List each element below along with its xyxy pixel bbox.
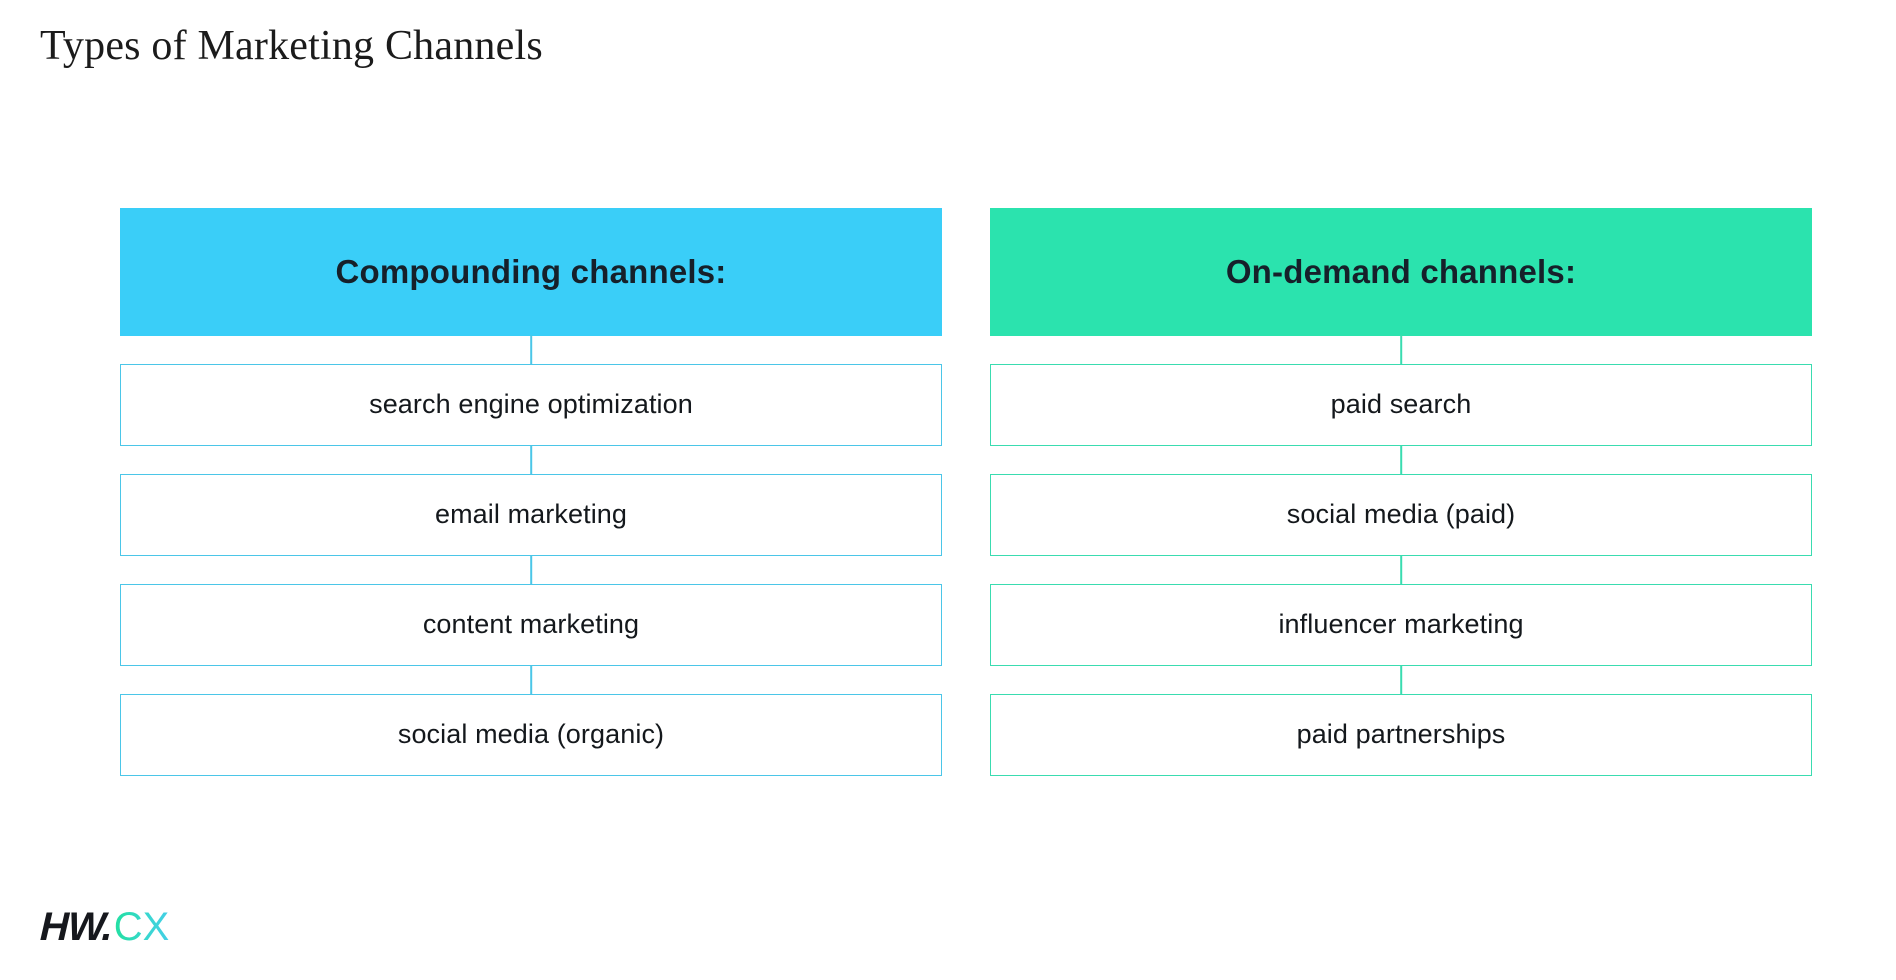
logo-cx-text: CX: [114, 905, 170, 950]
column-compounding: Compounding channels: search engine opti…: [120, 208, 942, 776]
column-header-compounding: Compounding channels:: [120, 208, 942, 336]
node-on-demand-1[interactable]: paid search: [990, 364, 1812, 446]
node-compounding-1[interactable]: search engine optimization: [120, 364, 942, 446]
node-compounding-3[interactable]: content marketing: [120, 584, 942, 666]
column-header-label: On-demand channels:: [1226, 254, 1576, 290]
column-header-label: Compounding channels:: [335, 254, 726, 290]
node-on-demand-4[interactable]: paid partnerships: [990, 694, 1812, 776]
node-label: email marketing: [435, 499, 627, 530]
brand-logo: HW. CX: [40, 905, 169, 950]
node-compounding-2[interactable]: email marketing: [120, 474, 942, 556]
node-label: search engine optimization: [369, 389, 693, 420]
diagram-canvas: Types of Marketing Channels Compounding …: [0, 0, 1896, 980]
node-on-demand-2[interactable]: social media (paid): [990, 474, 1812, 556]
logo-hw-text: HW.: [39, 905, 112, 950]
column-header-on-demand: On-demand channels:: [990, 208, 1812, 336]
page-title: Types of Marketing Channels: [40, 22, 543, 70]
node-label: paid search: [1331, 389, 1472, 420]
node-compounding-4[interactable]: social media (organic): [120, 694, 942, 776]
node-on-demand-3[interactable]: influencer marketing: [990, 584, 1812, 666]
node-label: influencer marketing: [1278, 609, 1523, 640]
node-label: paid partnerships: [1297, 719, 1506, 750]
column-on-demand: On-demand channels: paid search social m…: [990, 208, 1812, 776]
node-label: content marketing: [423, 609, 639, 640]
node-label: social media (paid): [1287, 499, 1516, 530]
node-label: social media (organic): [398, 719, 664, 750]
